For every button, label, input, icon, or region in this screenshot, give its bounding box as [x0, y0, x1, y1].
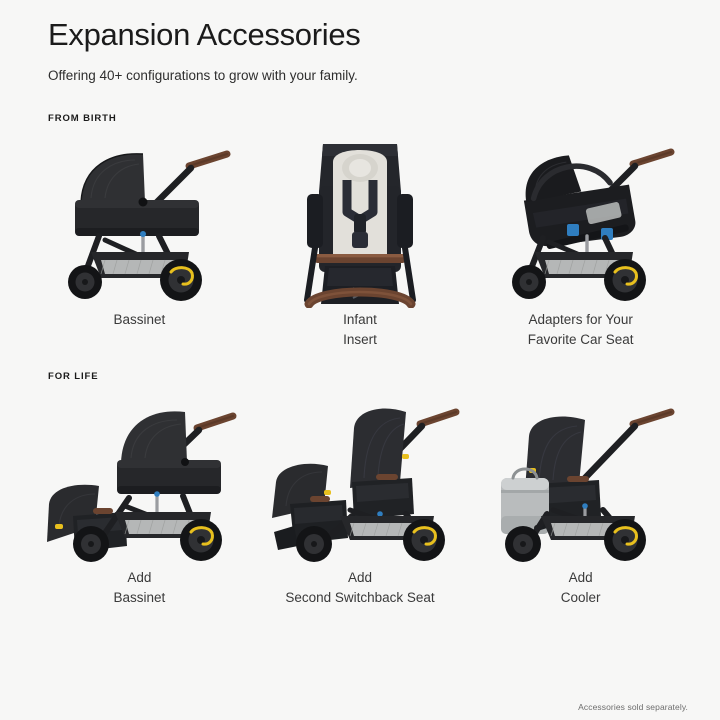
product-grid-for-life: Add Bassinet — [32, 386, 688, 607]
product-caption: Add Bassinet — [113, 568, 165, 607]
product-cell-infant-insert[interactable]: Infant Insert — [253, 128, 468, 349]
product-cell-car-seat-adapters[interactable]: Adapters for Your Favorite Car Seat — [473, 128, 688, 349]
product-caption: Add Second Switchback Seat — [285, 568, 434, 607]
product-cell-add-cooler[interactable]: Add Cooler — [473, 386, 688, 607]
product-cell-second-switchback-seat[interactable]: Add Second Switchback Seat — [253, 386, 468, 607]
stroller-seat-front-with-infant-insert-image — [253, 128, 468, 308]
stroller-double-seat-plus-bassinet-image — [32, 386, 247, 566]
stroller-with-cooler-image — [473, 386, 688, 566]
page-title: Expansion Accessories — [48, 18, 688, 52]
product-cell-bassinet[interactable]: Bassinet — [32, 128, 247, 349]
product-grid-from-birth: Bassinet — [32, 128, 688, 349]
stroller-with-bassinet-image — [32, 128, 247, 308]
expansion-accessories-page: Expansion Accessories Offering 40+ confi… — [0, 0, 720, 720]
footnote-disclaimer: Accessories sold separately. — [578, 702, 688, 712]
product-caption: Bassinet — [113, 310, 165, 330]
section-label-from-birth: FROM BIRTH — [48, 113, 688, 124]
section-label-for-life: FOR LIFE — [48, 371, 688, 382]
stroller-with-infant-car-seat-image — [473, 128, 688, 308]
page-header: Expansion Accessories Offering 40+ confi… — [32, 0, 688, 86]
product-cell-add-bassinet[interactable]: Add Bassinet — [32, 386, 247, 607]
product-caption: Add Cooler — [561, 568, 601, 607]
product-caption: Adapters for Your Favorite Car Seat — [528, 310, 634, 349]
stroller-double-switchback-seats-image — [253, 386, 468, 566]
product-caption: Infant Insert — [343, 310, 377, 349]
page-subtitle: Offering 40+ configurations to grow with… — [48, 66, 368, 86]
